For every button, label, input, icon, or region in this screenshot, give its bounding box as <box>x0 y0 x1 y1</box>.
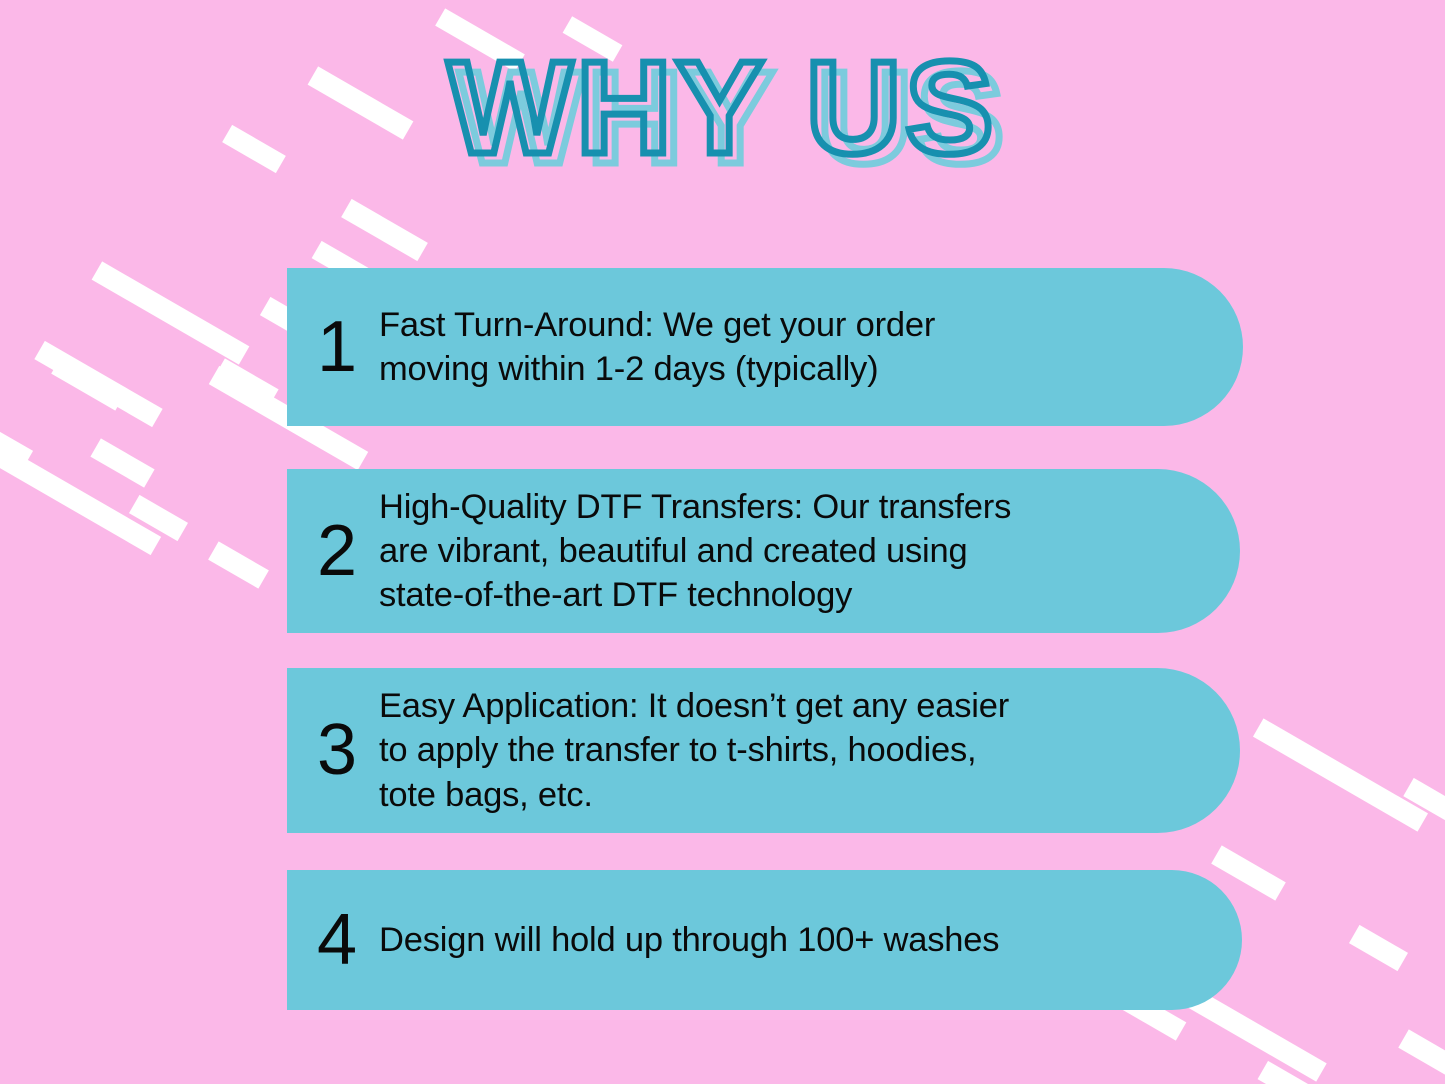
diagonal-dash <box>214 358 278 407</box>
list-item: 4 Design will hold up through 100+ washe… <box>287 870 1242 1010</box>
diagonal-dash <box>34 341 162 427</box>
list-item-text: Design will hold up through 100+ washes <box>379 918 999 962</box>
diagonal-dash <box>1403 778 1445 826</box>
list-item-text: Easy Application: It doesn’t get any eas… <box>379 684 1009 816</box>
diagonal-dash <box>1253 718 1428 831</box>
diagonal-dash <box>51 355 126 410</box>
poster-canvas: WHY US WHY US 1 Fast Turn-Around: We get… <box>0 0 1445 1084</box>
list-item-number: 1 <box>317 315 379 380</box>
diagonal-dash <box>129 495 188 541</box>
list-item: 1 Fast Turn-Around: We get your order mo… <box>287 268 1243 426</box>
diagonal-dash <box>1398 1029 1445 1084</box>
diagonal-dash <box>90 438 154 487</box>
diagonal-dash <box>208 541 269 588</box>
diagonal-dash <box>1258 1061 1324 1084</box>
list-item: 2 High-Quality DTF Transfers: Our transf… <box>287 469 1240 633</box>
diagonal-dash <box>0 413 161 555</box>
page-title: WHY US WHY US <box>0 38 1445 178</box>
list-item-number: 4 <box>317 908 379 973</box>
list-item-text: High-Quality DTF Transfers: Our transfer… <box>379 485 1011 617</box>
diagonal-dash <box>0 431 33 469</box>
list-item: 3 Easy Application: It doesn’t get any e… <box>287 668 1240 833</box>
list-item-number: 2 <box>317 519 379 584</box>
diagonal-dash <box>92 261 250 364</box>
diagonal-dash <box>341 199 428 261</box>
diagonal-dash <box>1349 925 1408 971</box>
benefits-list: 1 Fast Turn-Around: We get your order mo… <box>287 268 1247 1010</box>
page-title-text: WHY US <box>0 38 1445 178</box>
list-item-number: 3 <box>317 718 379 783</box>
list-item-text: Fast Turn-Around: We get your order movi… <box>379 303 935 391</box>
